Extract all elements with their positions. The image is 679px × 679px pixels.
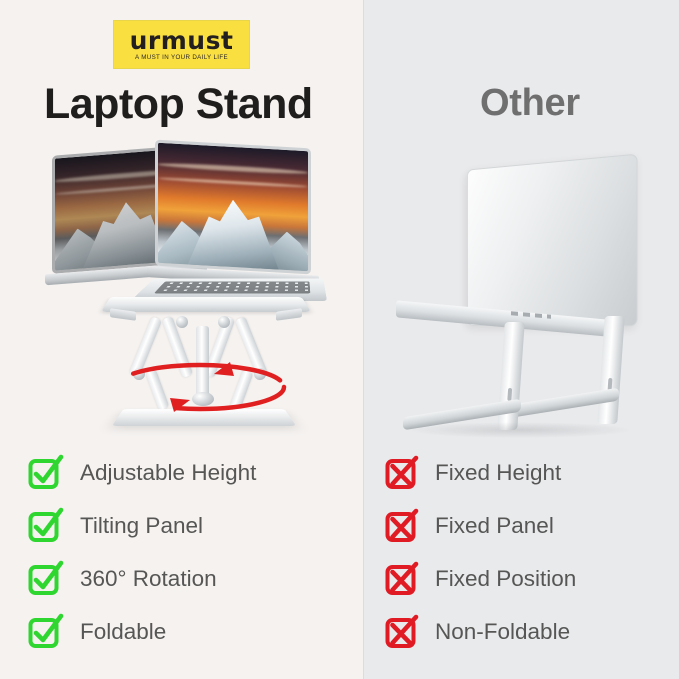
- front-laptop: [155, 140, 311, 275]
- comparison-board: urmust A MUST IN YOUR DAILY LIFE Laptop …: [0, 0, 679, 679]
- list-item: Tilting Panel: [28, 500, 256, 553]
- left-column: urmust A MUST IN YOUR DAILY LIFE Laptop …: [0, 0, 363, 679]
- brand-name: urmust: [130, 28, 234, 53]
- feature-label: Fixed Panel: [435, 515, 554, 538]
- list-item: Fixed Height: [385, 447, 576, 500]
- hinge-top-left: [176, 316, 188, 328]
- cross-icon: [385, 563, 418, 596]
- front-laptop-screen: [155, 140, 311, 275]
- list-item: 360° Rotation: [28, 553, 256, 606]
- feature-label: Adjustable Height: [80, 462, 256, 485]
- cross-icon: [385, 510, 418, 543]
- left-product-stage: [0, 140, 363, 435]
- stand-top-tray: [101, 297, 311, 312]
- laptop-lid-rear: [467, 154, 638, 327]
- list-item: Foldable: [28, 606, 256, 659]
- 360-rotation-arrow-icon: [104, 354, 296, 420]
- check-icon: [28, 457, 61, 490]
- list-item: Fixed Panel: [385, 500, 576, 553]
- product-shadow: [407, 422, 633, 438]
- cross-icon: [385, 616, 418, 649]
- fixed-laptop-stand-image: [363, 150, 679, 435]
- hinge-top-right: [218, 316, 230, 328]
- right-product-stage: [363, 150, 679, 435]
- brand-tagline: A MUST IN YOUR DAILY LIFE: [135, 55, 228, 61]
- check-icon: [28, 616, 61, 649]
- feature-label: Tilting Panel: [80, 515, 203, 538]
- feature-label: Foldable: [80, 621, 166, 644]
- list-item: Adjustable Height: [28, 447, 256, 500]
- right-feature-list: Fixed Height Fixed Panel Fixed Position: [385, 447, 576, 659]
- list-item: Non-Foldable: [385, 606, 576, 659]
- feature-label: 360° Rotation: [80, 568, 217, 591]
- feature-label: Non-Foldable: [435, 621, 570, 644]
- brand-logo: urmust A MUST IN YOUR DAILY LIFE: [113, 20, 250, 69]
- adjustable-laptop-stand-image: [0, 140, 363, 435]
- cross-icon: [385, 457, 418, 490]
- list-item: Fixed Position: [385, 553, 576, 606]
- right-heading: Other: [480, 84, 580, 124]
- check-icon: [28, 510, 61, 543]
- left-feature-list: Adjustable Height Tilting Panel 360° Rot…: [28, 447, 256, 659]
- feature-label: Fixed Height: [435, 462, 561, 485]
- feature-label: Fixed Position: [435, 568, 576, 591]
- left-heading: Laptop Stand: [44, 82, 313, 127]
- check-icon: [28, 563, 61, 596]
- right-column: Other: [363, 0, 679, 679]
